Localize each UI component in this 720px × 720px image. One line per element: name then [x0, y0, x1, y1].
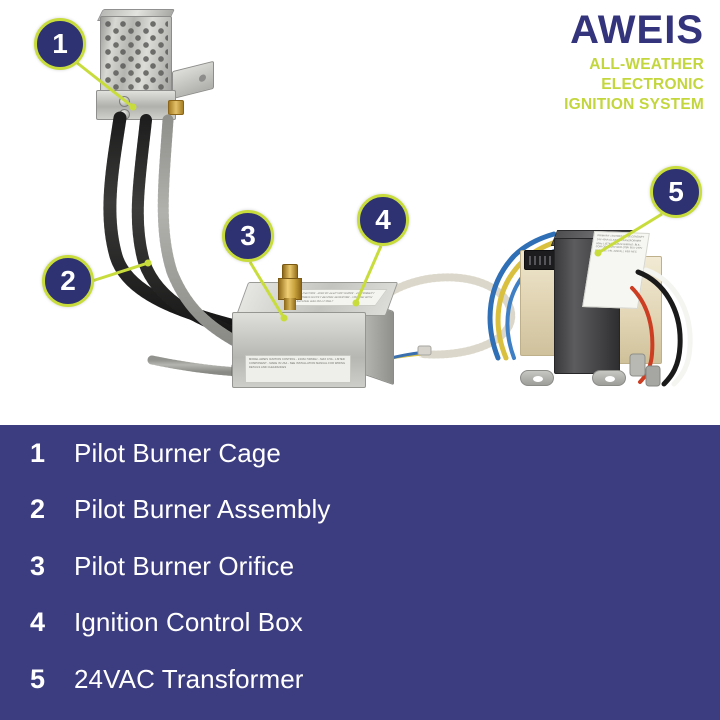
legend-label-3: Pilot Burner Orifice [74, 551, 294, 582]
control-box-top-face: CAUTION - RISK OF ELECTRIC SHOCK - DISCO… [236, 282, 398, 316]
callout-badge-1[interactable]: 1 [34, 18, 86, 70]
legend-label-4: Ignition Control Box [74, 607, 303, 638]
product-photo-stage: AWEIS ALL-WEATHER ELECTRONIC IGNITION SY… [0, 0, 720, 425]
callout-badge-3[interactable]: 3 [222, 210, 274, 262]
orifice-stem [284, 298, 296, 310]
transformer-terminal-block [524, 250, 558, 270]
orifice-hex-nut [278, 278, 302, 300]
transformer-secondary-wires [624, 254, 708, 388]
parts-diagram-page: AWEIS ALL-WEATHER ELECTRONIC IGNITION SY… [0, 0, 720, 720]
legend-item-4: 4 Ignition Control Box [0, 595, 720, 652]
legend-label-5: 24VAC Transformer [74, 664, 304, 695]
legend-item-5: 5 24VAC Transformer [0, 651, 720, 708]
control-box-front-face: MODEL AWEIS IGNITION CONTROL - 24VAC 50/… [232, 312, 366, 388]
control-box-top-label: CAUTION - RISK OF ELECTRIC SHOCK - DISCO… [289, 289, 387, 306]
legend-label-2: Pilot Burner Assembly [74, 494, 330, 525]
callout-badge-5[interactable]: 5 [650, 166, 702, 218]
legend-label-1: Pilot Burner Cage [74, 438, 281, 469]
wire-connector-a [630, 354, 645, 376]
legend-number-2: 2 [30, 494, 74, 525]
legend-number-3: 3 [30, 551, 74, 582]
legend-number-4: 4 [30, 607, 74, 638]
callout-badge-2[interactable]: 2 [42, 255, 94, 307]
legend-item-1: 1 Pilot Burner Cage [0, 425, 720, 482]
transformer: PRIMARY 120/208/240V SECONDARY 24V 40VA … [496, 228, 706, 388]
parts-legend: 1 Pilot Burner Cage 2 Pilot Burner Assem… [0, 425, 720, 720]
legend-item-2: 2 Pilot Burner Assembly [0, 482, 720, 539]
ignition-control-box: CAUTION - RISK OF ELECTRIC SHOCK - DISCO… [232, 282, 396, 390]
transformer-mounting-foot-right [592, 370, 626, 386]
legend-number-5: 5 [30, 664, 74, 695]
control-box-front-label: MODEL AWEIS IGNITION CONTROL - 24VAC 50/… [245, 355, 351, 383]
conduit-connector [418, 346, 431, 355]
pilot-burner-orifice [278, 264, 302, 308]
wire-connector-b [646, 366, 660, 386]
callout-badge-4[interactable]: 4 [357, 194, 409, 246]
transformer-mounting-foot-left [520, 370, 554, 386]
legend-item-3: 3 Pilot Burner Orifice [0, 538, 720, 595]
legend-number-1: 1 [30, 438, 74, 469]
